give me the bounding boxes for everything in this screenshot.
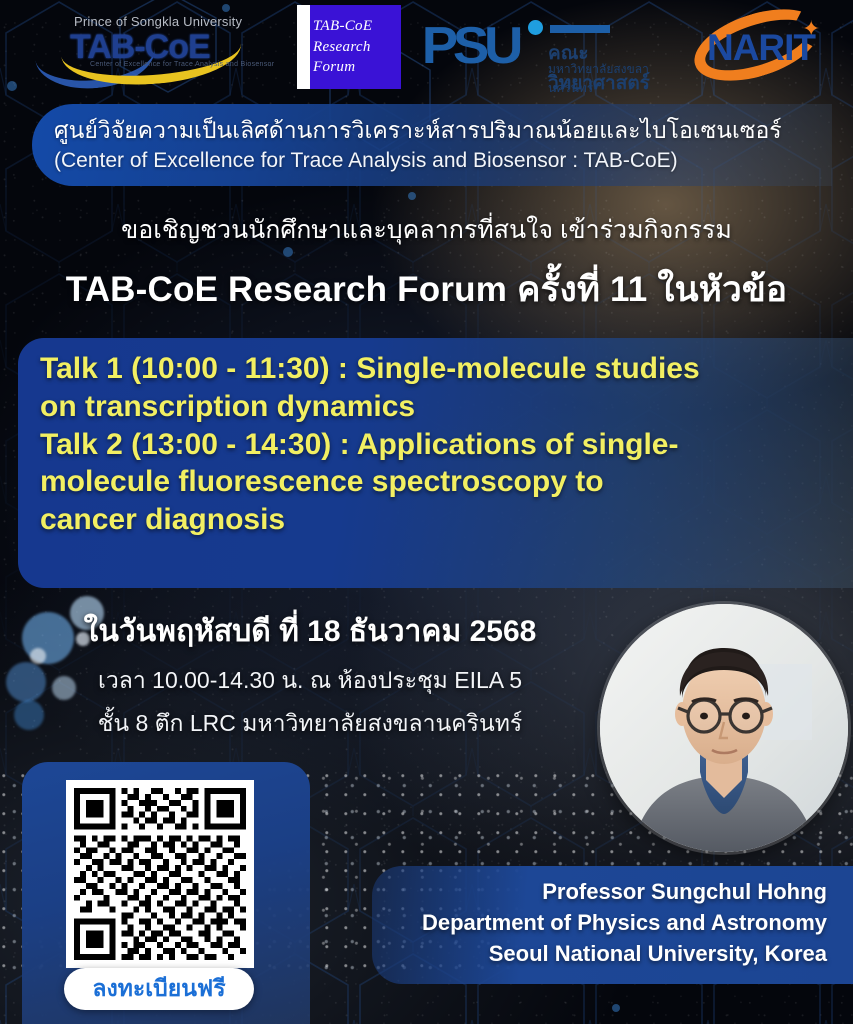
talk-2-line-3: cancer diagnosis <box>40 501 837 539</box>
bokeh-circle <box>30 648 46 664</box>
center-name-thai: ศูนย์วิจัยความเป็นเลิศด้านการวิเคราะห์สา… <box>54 116 832 145</box>
invitation-line: ขอเชิญชวนนักศึกษาและบุคลากรที่สนใจ เข้าร… <box>0 210 853 250</box>
speaker-portrait <box>600 604 848 852</box>
poster-root: Prince of Songkla University TAB-CoE Cen… <box>0 0 853 1024</box>
speaker-portrait-image <box>600 604 848 852</box>
bokeh-circle <box>6 662 46 702</box>
talk-1-line-2: on transcription dynamics <box>40 388 837 426</box>
speaker-info-plate: Professor Sungchul Hohng Department of P… <box>372 866 853 984</box>
speaker-affiliation: Seoul National University, Korea <box>372 938 827 969</box>
research-forum-logo: TAB-CoE Research Forum <box>297 5 401 89</box>
talk-2-line-2: molecule fluorescence spectroscopy to <box>40 463 837 501</box>
talks-panel: Talk 1 (10:00 - 11:30) : Single-molecule… <box>18 338 853 588</box>
talk-2-line-1: Talk 2 (13:00 - 14:30) : Applications of… <box>40 426 837 464</box>
registration-qr-code[interactable] <box>66 780 254 968</box>
narit-wordmark: NARIT <box>694 27 828 69</box>
forum-title: TAB-CoE Research Forum ครั้งที่ 11 ในหัว… <box>0 262 853 317</box>
register-free-button[interactable]: ลงทะเบียนฟรี <box>64 968 254 1010</box>
event-date: ในวันพฤหัสบดี ที่ 18 ธันวาคม 2568 <box>60 608 560 655</box>
event-location: ชั้น 8 ตึก LRC มหาวิทยาลัยสงขลานครินทร์ <box>60 706 560 742</box>
speaker-department: Department of Physics and Astronomy <box>372 907 827 938</box>
psu-wordmark: PSU <box>422 16 519 76</box>
center-name-english: (Center of Excellence for Trace Analysis… <box>54 147 832 174</box>
psu-university-label: มหาวิทยาลัยสงขลานครินทร์ <box>548 60 684 98</box>
forum-logo-line-2: Research <box>313 37 395 58</box>
center-name-banner: ศูนย์วิจัยความเป็นเลิศด้านการวิเคราะห์สา… <box>32 104 832 186</box>
logo-strip: Prince of Songkla University TAB-CoE Cen… <box>0 0 853 92</box>
forum-logo-line-3: Forum <box>313 57 395 78</box>
qr-code-image <box>74 788 246 960</box>
psu-bar-icon <box>550 25 610 33</box>
speaker-name: Professor Sungchul Hohng <box>372 876 827 907</box>
talk-1-line-1: Talk 1 (10:00 - 11:30) : Single-molecule… <box>40 350 837 388</box>
narit-logo: ✦ NARIT <box>686 8 836 84</box>
tabcoe-logo: Prince of Songkla University TAB-CoE Cen… <box>62 6 312 84</box>
event-time-venue: เวลา 10.00-14.30 น. ณ ห้องประชุม EILA 5 <box>60 663 560 699</box>
tabcoe-university-label: Prince of Songkla University <box>74 14 242 29</box>
psu-dot-icon <box>528 20 543 35</box>
psu-logo: PSU คณะวิทยาศาสตร์ มหาวิทยาลัยสงขลานคริน… <box>424 10 684 82</box>
forum-logo-line-1: TAB-CoE <box>313 16 395 37</box>
bokeh-circle <box>14 700 44 730</box>
tabcoe-subtitle: Center of Excellence for Trace Analysis … <box>90 61 274 68</box>
